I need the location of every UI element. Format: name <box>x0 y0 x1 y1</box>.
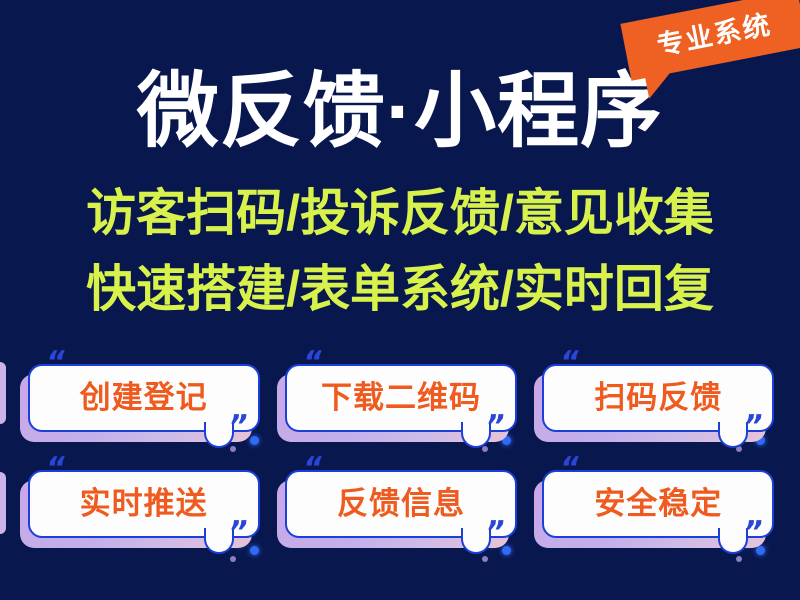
quote-open-icon: “ <box>301 348 325 378</box>
quote-close-icon: ” <box>226 412 250 442</box>
edge-sliver <box>0 472 6 534</box>
promo-poster: 专业系统 微反馈·小程序 访客扫码/投诉反馈/意见收集 快速搭建/表单系统/实时… <box>0 0 800 600</box>
quote-open-icon: “ <box>44 348 68 378</box>
quote-open-icon: “ <box>301 454 325 484</box>
quote-close-icon: ” <box>740 518 764 548</box>
quote-close-icon: ” <box>226 518 250 548</box>
edge-sliver <box>0 362 6 424</box>
feature-tag-feedback-info[interactable]: “ 反馈信息 ” <box>285 470 517 542</box>
feature-tag-grid: “ 创建登记 ” “ 下载二维码 ” “ 扫码反馈 ” “ <box>18 352 784 564</box>
feature-tag-create-registration[interactable]: “ 创建登记 ” <box>28 364 260 436</box>
quote-close-icon: ” <box>740 412 764 442</box>
feature-tag-realtime-push[interactable]: “ 实时推送 ” <box>28 470 260 542</box>
feature-tag-scan-feedback[interactable]: “ 扫码反馈 ” <box>542 364 774 436</box>
feature-tag-download-qrcode[interactable]: “ 下载二维码 ” <box>285 364 517 436</box>
quote-open-icon: “ <box>44 454 68 484</box>
badge-label: 专业系统 <box>620 0 800 81</box>
feature-tag-safe-stable[interactable]: “ 安全稳定 ” <box>542 470 774 542</box>
subtitle-line-2: 快速搭建/表单系统/实时回复 <box>0 258 800 320</box>
subtitle-line-1: 访客扫码/投诉反馈/意见收集 <box>0 182 800 244</box>
